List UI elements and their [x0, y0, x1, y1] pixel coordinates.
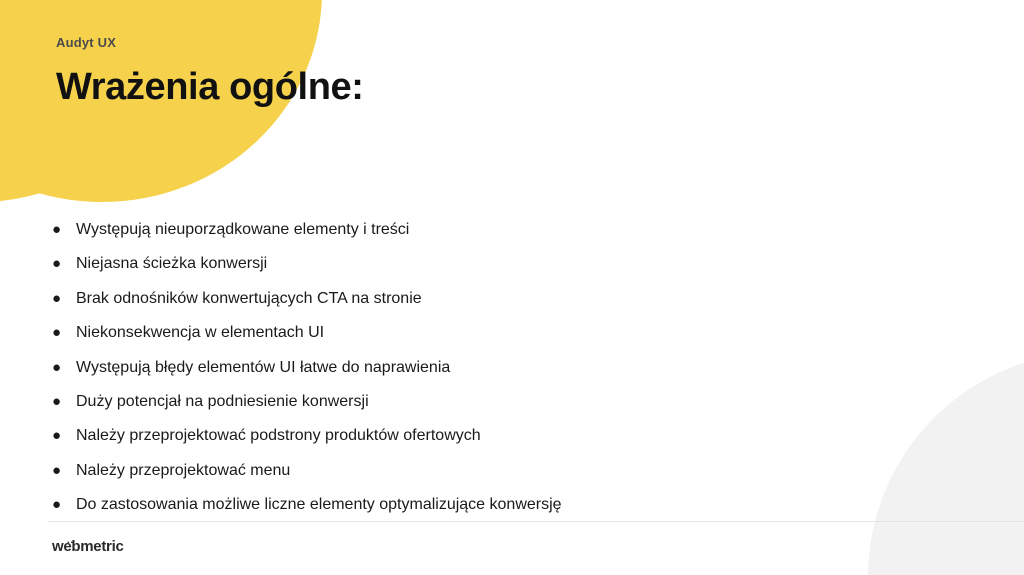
- bullet-dot-icon: ●: [52, 247, 76, 281]
- list-item: ● Należy przeprojektować podstrony produ…: [52, 419, 952, 453]
- bullet-dot-icon: ●: [52, 351, 76, 385]
- slide-footer: .. webmetric: [52, 538, 124, 556]
- bullet-dot-icon: ●: [52, 419, 76, 453]
- findings-bullet-list: ● Występują nieuporządkowane elementy i …: [52, 213, 952, 523]
- list-item-label: Niekonsekwencja w elementach UI: [76, 316, 952, 350]
- list-item-label: Brak odnośników konwertujących CTA na st…: [76, 282, 952, 316]
- list-item: ● Niekonsekwencja w elementach UI: [52, 316, 952, 350]
- list-item: ● Brak odnośników konwertujących CTA na …: [52, 282, 952, 316]
- bullet-dot-icon: ●: [52, 454, 76, 488]
- list-item: ● Do zastosowania możliwe liczne element…: [52, 488, 952, 522]
- list-item-label: Duży potencjał na podniesienie konwersji: [76, 385, 952, 419]
- bullet-dot-icon: ●: [52, 213, 76, 247]
- bullet-dot-icon: ●: [52, 488, 76, 522]
- list-item-label: Niejasna ścieżka konwersji: [76, 247, 952, 281]
- slide-eyebrow-label: Audyt UX: [56, 36, 364, 49]
- list-item: ● Występują błędy elementów UI łatwe do …: [52, 351, 952, 385]
- bullet-dot-icon: ●: [52, 282, 76, 316]
- bullet-dot-icon: ●: [52, 316, 76, 350]
- list-item: ● Występują nieuporządkowane elementy i …: [52, 213, 952, 247]
- list-item-label: Należy przeprojektować podstrony produkt…: [76, 419, 952, 453]
- list-item-label: Występują błędy elementów UI łatwe do na…: [76, 351, 952, 385]
- list-item: ● Należy przeprojektować menu: [52, 454, 952, 488]
- logo-wordmark: webmetric: [52, 538, 124, 555]
- list-item-label: Do zastosowania możliwe liczne elementy …: [76, 488, 952, 522]
- webmetric-logo: .. webmetric: [52, 539, 124, 554]
- page-title: Wrażenia ogólne:: [56, 67, 364, 109]
- logo-dots-icon: ..: [67, 536, 74, 545]
- slide-header: Audyt UX Wrażenia ogólne:: [56, 36, 364, 109]
- list-item: ● Niejasna ścieżka konwersji: [52, 247, 952, 281]
- bullet-dot-icon: ●: [52, 385, 76, 419]
- list-item: ● Duży potencjał na podniesienie konwers…: [52, 385, 952, 419]
- list-item-label: Występują nieuporządkowane elementy i tr…: [76, 213, 952, 247]
- list-item-label: Należy przeprojektować menu: [76, 454, 952, 488]
- presentation-slide: Audyt UX Wrażenia ogólne: ● Występują ni…: [0, 0, 1024, 575]
